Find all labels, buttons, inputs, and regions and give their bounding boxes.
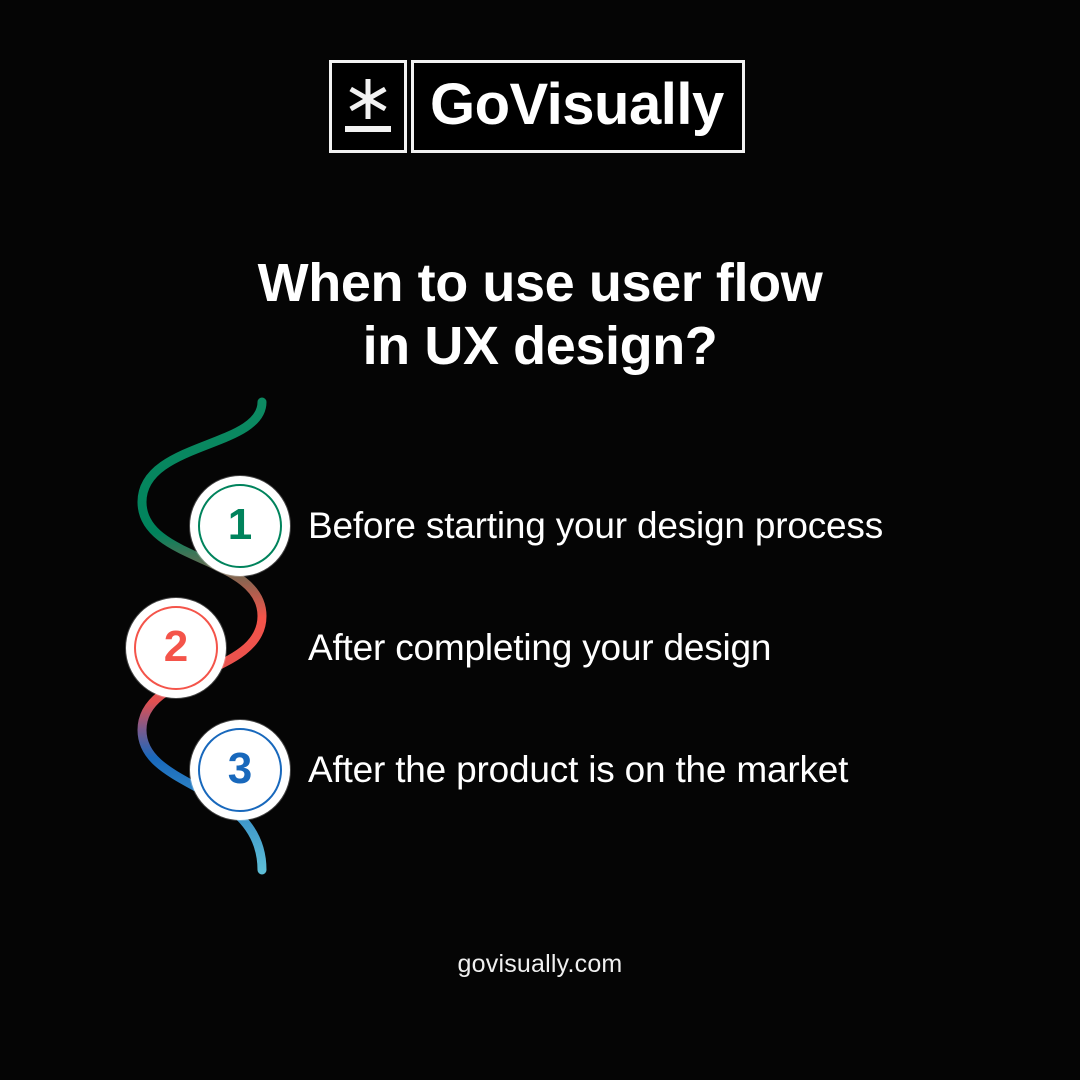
- logo-wordmark-text: GoVisually: [430, 76, 724, 134]
- step-badge: 3: [190, 720, 290, 820]
- step-badge: 1: [190, 476, 290, 576]
- step-number: 2: [164, 625, 188, 669]
- asterisk-icon: [346, 77, 390, 121]
- logo-underbar: [345, 126, 391, 132]
- steps-list: 1 Before starting your design process 2 …: [0, 390, 1080, 890]
- logo-wordmark-box: GoVisually: [411, 60, 745, 153]
- logo-mark-box: [329, 60, 407, 153]
- step-label: After completing your design: [308, 628, 771, 669]
- step-number: 1: [228, 503, 252, 547]
- page-title-line-2: in UX design?: [0, 315, 1080, 378]
- page-title: When to use user flow in UX design?: [0, 252, 1080, 378]
- page-title-line-1: When to use user flow: [0, 252, 1080, 315]
- step-badge: 2: [126, 598, 226, 698]
- govisually-logo[interactable]: GoVisually: [329, 60, 745, 153]
- step-label: Before starting your design process: [308, 506, 883, 547]
- step-item[interactable]: 3 After the product is on the market: [190, 720, 848, 820]
- step-number: 3: [228, 747, 252, 791]
- step-label: After the product is on the market: [308, 750, 848, 791]
- poster-canvas: GoVisually When to use user flow in UX d…: [0, 0, 1080, 1080]
- step-item[interactable]: 2 After completing your design: [126, 598, 771, 698]
- footer-website-url[interactable]: govisually.com: [0, 950, 1080, 979]
- step-item[interactable]: 1 Before starting your design process: [190, 476, 883, 576]
